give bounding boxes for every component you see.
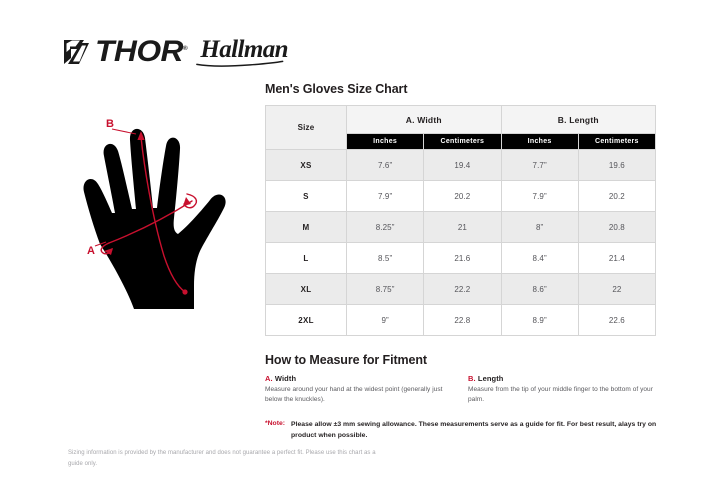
how-to-length-body: Measure from the tip of your middle fing… <box>468 385 657 405</box>
cell-length-centimeters: 21.4 <box>578 243 655 274</box>
cell-width-inches: 8.25” <box>347 212 424 243</box>
cell-length-centimeters: 20.8 <box>578 212 655 243</box>
hallman-logo: Hallman <box>200 37 288 67</box>
table-body: XS 7.6” 19.4 7.7” 19.6 S 7.9” 20.2 7.9” … <box>266 150 656 336</box>
cell-length-inches: 8.9” <box>501 305 578 336</box>
cell-width-centimeters: 19.4 <box>424 150 501 181</box>
cell-width-centimeters: 21.6 <box>424 243 501 274</box>
note-text: Please allow ±3 mm sewing allowance. The… <box>291 420 657 442</box>
how-to-width-letter: A. <box>265 374 273 383</box>
page-title: Men's Gloves Size Chart <box>265 82 657 96</box>
how-to-length-name: Length <box>476 374 504 383</box>
brand-logo-bar: THOR® Hallman <box>62 30 288 74</box>
cell-width-centimeters: 22.8 <box>424 305 501 336</box>
thor-arrow-icon <box>62 37 92 67</box>
table-row: XL 8.75” 22.2 8.6” 22 <box>266 274 656 305</box>
cell-width-inches: 8.5” <box>347 243 424 274</box>
note-block: *Note: Please allow ±3 mm sewing allowan… <box>265 420 657 442</box>
table-row: S 7.9” 20.2 7.9” 20.2 <box>266 181 656 212</box>
how-to-width-body: Measure around your hand at the widest p… <box>265 385 454 405</box>
how-to-measure-columns: A. Width Measure around your hand at the… <box>265 374 657 405</box>
how-to-width-name: Width <box>273 374 296 383</box>
footer-disclaimer: Sizing information is provided by the ma… <box>68 448 388 469</box>
how-to-measure-length: B. Length Measure from the tip of your m… <box>468 374 657 405</box>
cell-length-centimeters: 22 <box>578 274 655 305</box>
registered-trademark-icon: ® <box>183 46 188 52</box>
cell-length-inches: 8” <box>501 212 578 243</box>
cell-length-centimeters: 19.6 <box>578 150 655 181</box>
cell-length-inches: 8.4” <box>501 243 578 274</box>
cell-size: XL <box>266 274 347 305</box>
cell-width-inches: 8.75” <box>347 274 424 305</box>
cell-length-centimeters: 22.6 <box>578 305 655 336</box>
how-to-measure-title: How to Measure for Fitment <box>265 353 657 367</box>
cell-width-inches: 7.9” <box>347 181 424 212</box>
column-header-width-inches: Inches <box>347 134 424 150</box>
cell-size: 2XL <box>266 305 347 336</box>
cell-width-centimeters: 22.2 <box>424 274 501 305</box>
width-label-a: A <box>87 245 95 257</box>
cell-length-inches: 7.7” <box>501 150 578 181</box>
cell-length-inches: 8.6” <box>501 274 578 305</box>
length-label-b: B <box>106 118 114 130</box>
hand-diagram-svg: B A <box>70 96 265 318</box>
table-row: XS 7.6” 19.4 7.7” 19.6 <box>266 150 656 181</box>
table-row: 2XL 9” 22.8 8.9” 22.6 <box>266 305 656 336</box>
column-header-width-centimeters: Centimeters <box>424 134 501 150</box>
cell-size: XS <box>266 150 347 181</box>
hallman-swash-icon <box>196 60 284 67</box>
cell-length-inches: 7.9” <box>501 181 578 212</box>
column-group-header-width: A. Width <box>347 106 502 134</box>
column-header-size: Size <box>266 106 347 150</box>
how-to-length-letter: B. <box>468 374 476 383</box>
column-group-header-length: B. Length <box>501 106 656 134</box>
thor-wordmark: THOR® <box>95 37 188 67</box>
cell-width-inches: 7.6” <box>347 150 424 181</box>
how-to-length-heading: B. Length <box>468 374 657 383</box>
hand-measurement-diagram: B A <box>70 96 265 318</box>
thor-logo: THOR® <box>62 37 182 67</box>
how-to-width-heading: A. Width <box>265 374 454 383</box>
column-header-length-inches: Inches <box>501 134 578 150</box>
table-header-row-groups: Size A. Width B. Length <box>266 106 656 134</box>
table-header: Size A. Width B. Length Inches Centimete… <box>266 106 656 150</box>
cell-length-centimeters: 20.2 <box>578 181 655 212</box>
cell-width-centimeters: 21 <box>424 212 501 243</box>
table-row: L 8.5” 21.6 8.4” 21.4 <box>266 243 656 274</box>
cell-size: L <box>266 243 347 274</box>
table-row: M 8.25” 21 8” 20.8 <box>266 212 656 243</box>
cell-width-centimeters: 20.2 <box>424 181 501 212</box>
size-chart-content: Men's Gloves Size Chart Size A. Width B.… <box>265 82 657 442</box>
cell-size: S <box>266 181 347 212</box>
cell-width-inches: 9” <box>347 305 424 336</box>
cell-size: M <box>266 212 347 243</box>
column-header-length-centimeters: Centimeters <box>578 134 655 150</box>
hallman-wordmark: Hallman <box>200 37 288 62</box>
size-chart-table: Size A. Width B. Length Inches Centimete… <box>265 105 656 336</box>
note-label: *Note: <box>265 420 285 427</box>
how-to-measure-width: A. Width Measure around your hand at the… <box>265 374 454 405</box>
